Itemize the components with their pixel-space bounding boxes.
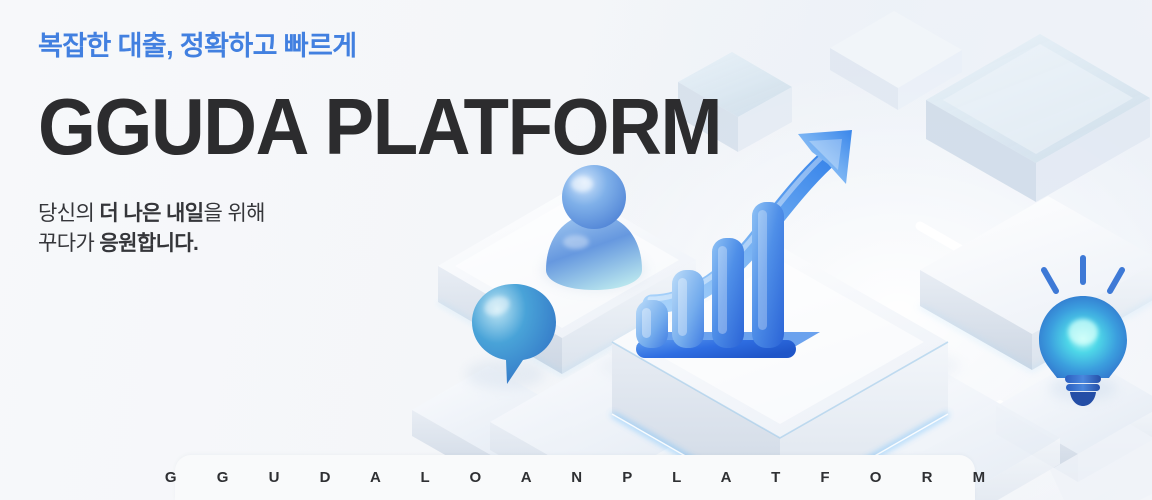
- page-title: GGUDA PLATFORM: [38, 88, 721, 166]
- hero-banner: 복잡한 대출, 정확하고 빠르게 GGUDA PLATFORM 당신의 더 나은…: [0, 0, 1152, 500]
- lightbulb-3d-icon: [1039, 258, 1127, 406]
- subtitle-2-bold: 응원합니다.: [99, 232, 198, 255]
- subtitle-1-suffix: 을 위해: [203, 202, 264, 225]
- hero-subtitle-line-1: 당신의 더 나은 내일을 위해: [38, 199, 772, 229]
- hero-subtitle-line-2: 꾸다가 응원합니다.: [38, 229, 772, 259]
- hero-subtitle: 당신의 더 나은 내일을 위해 꾸다가 응원합니다.: [38, 199, 772, 260]
- hero-tagline: 복잡한 대출, 정확하고 빠르게: [38, 30, 772, 62]
- footer-panel: G G U D A L O A N P L A T F O R M: [175, 455, 975, 500]
- hero-copy: 복잡한 대출, 정확하고 빠르게 GGUDA PLATFORM 당신의 더 나은…: [38, 30, 772, 260]
- footer-brand-text: G G U D A L O A N P L A T F O R M: [147, 469, 1003, 486]
- subtitle-1-prefix: 당신의: [38, 202, 99, 225]
- subtitle-1-bold: 더 나은 내일: [99, 202, 203, 225]
- subtitle-2-prefix: 꾸다가: [38, 232, 99, 255]
